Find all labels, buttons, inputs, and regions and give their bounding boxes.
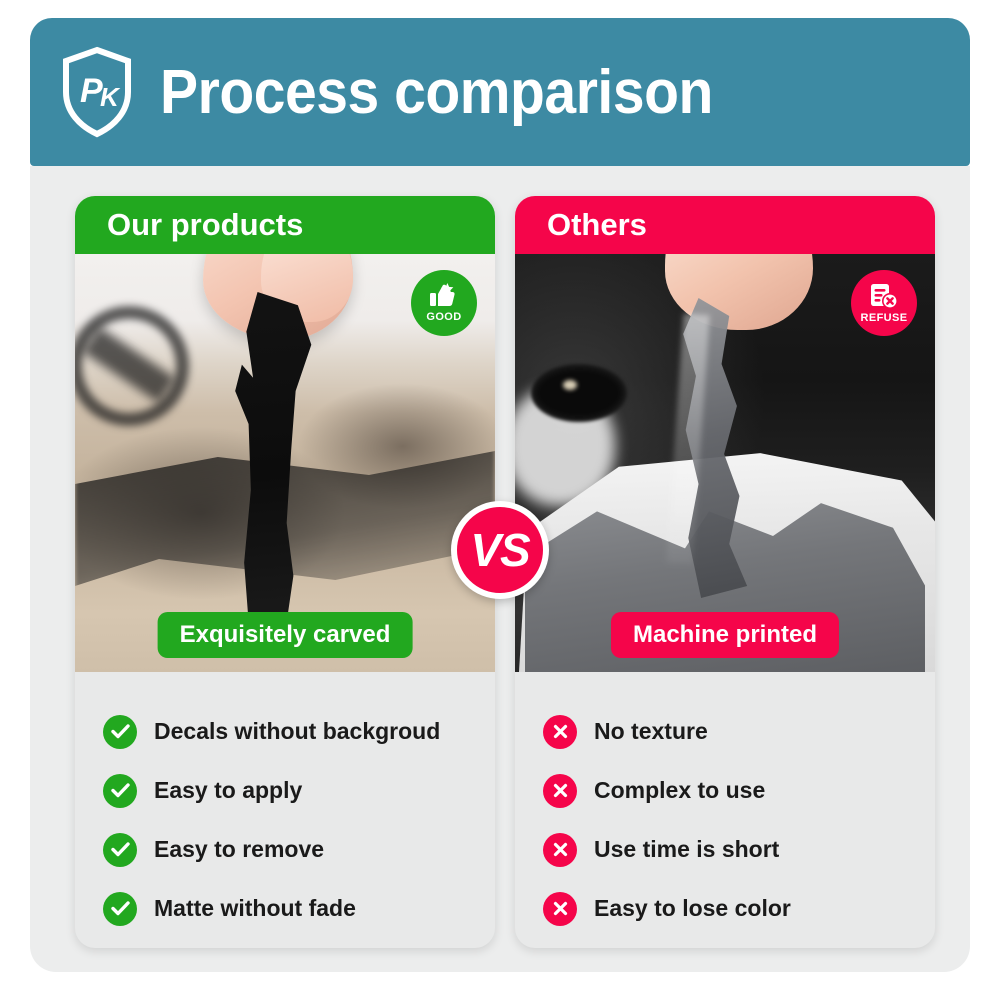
list-item-label: Complex to use <box>594 777 765 804</box>
logo-letter-k: K <box>100 82 121 112</box>
shield-icon: P K <box>60 46 134 138</box>
document-x-icon <box>869 283 899 310</box>
list-item: No texture <box>543 702 935 761</box>
photo-caption: Machine printed <box>611 612 839 658</box>
page-title: Process comparison <box>160 57 713 128</box>
product-photo-our-products: GOOD Exquisitely carved <box>75 254 495 672</box>
list-item-label: Matte without fade <box>154 895 356 922</box>
quality-badge-refuse: REFUSE <box>851 270 917 336</box>
thumbs-up-icon <box>429 283 459 309</box>
list-item: Complex to use <box>543 761 935 820</box>
cross-icon <box>543 774 577 808</box>
cross-icon <box>543 715 577 749</box>
cross-icon <box>543 892 577 926</box>
badge-label: REFUSE <box>860 312 907 324</box>
list-item: Matte without fade <box>103 879 495 938</box>
list-item-label: No texture <box>594 718 708 745</box>
infographic-page: P K Process comparison Our products GOOD <box>0 0 1000 1000</box>
background-highlight <box>563 380 577 390</box>
list-item: Easy to remove <box>103 820 495 879</box>
page-header: P K Process comparison <box>30 18 970 166</box>
check-icon <box>103 833 137 867</box>
list-item: Decals without backgroud <box>103 702 495 761</box>
vs-badge: VS <box>451 501 549 599</box>
check-icon <box>103 892 137 926</box>
feature-list-others: No texture Complex to use Use time is sh… <box>515 672 935 938</box>
list-item-label: Easy to remove <box>154 836 324 863</box>
list-item: Easy to apply <box>103 761 495 820</box>
badge-label: GOOD <box>426 311 461 323</box>
feature-list-our-products: Decals without backgroud Easy to apply E… <box>75 672 495 938</box>
check-icon <box>103 774 137 808</box>
card-header-label: Others <box>515 196 935 254</box>
cross-icon <box>543 833 577 867</box>
quality-badge-good: GOOD <box>411 270 477 336</box>
list-item-label: Decals without backgroud <box>154 718 440 745</box>
comparison-card-others: Others REFUSE Machine pr <box>515 196 935 948</box>
list-item-label: Use time is short <box>594 836 779 863</box>
comparison-card-our-products: Our products GOOD Exquisitely carved <box>75 196 495 948</box>
list-item: Use time is short <box>543 820 935 879</box>
card-header-label: Our products <box>75 196 495 254</box>
list-item-label: Easy to lose color <box>594 895 791 922</box>
background-blur-shape <box>531 364 627 422</box>
check-icon <box>103 715 137 749</box>
list-item-label: Easy to apply <box>154 777 302 804</box>
product-photo-others: REFUSE Machine printed <box>515 254 935 672</box>
vs-label: VS <box>470 523 529 577</box>
photo-caption: Exquisitely carved <box>158 612 413 658</box>
list-item: Easy to lose color <box>543 879 935 938</box>
